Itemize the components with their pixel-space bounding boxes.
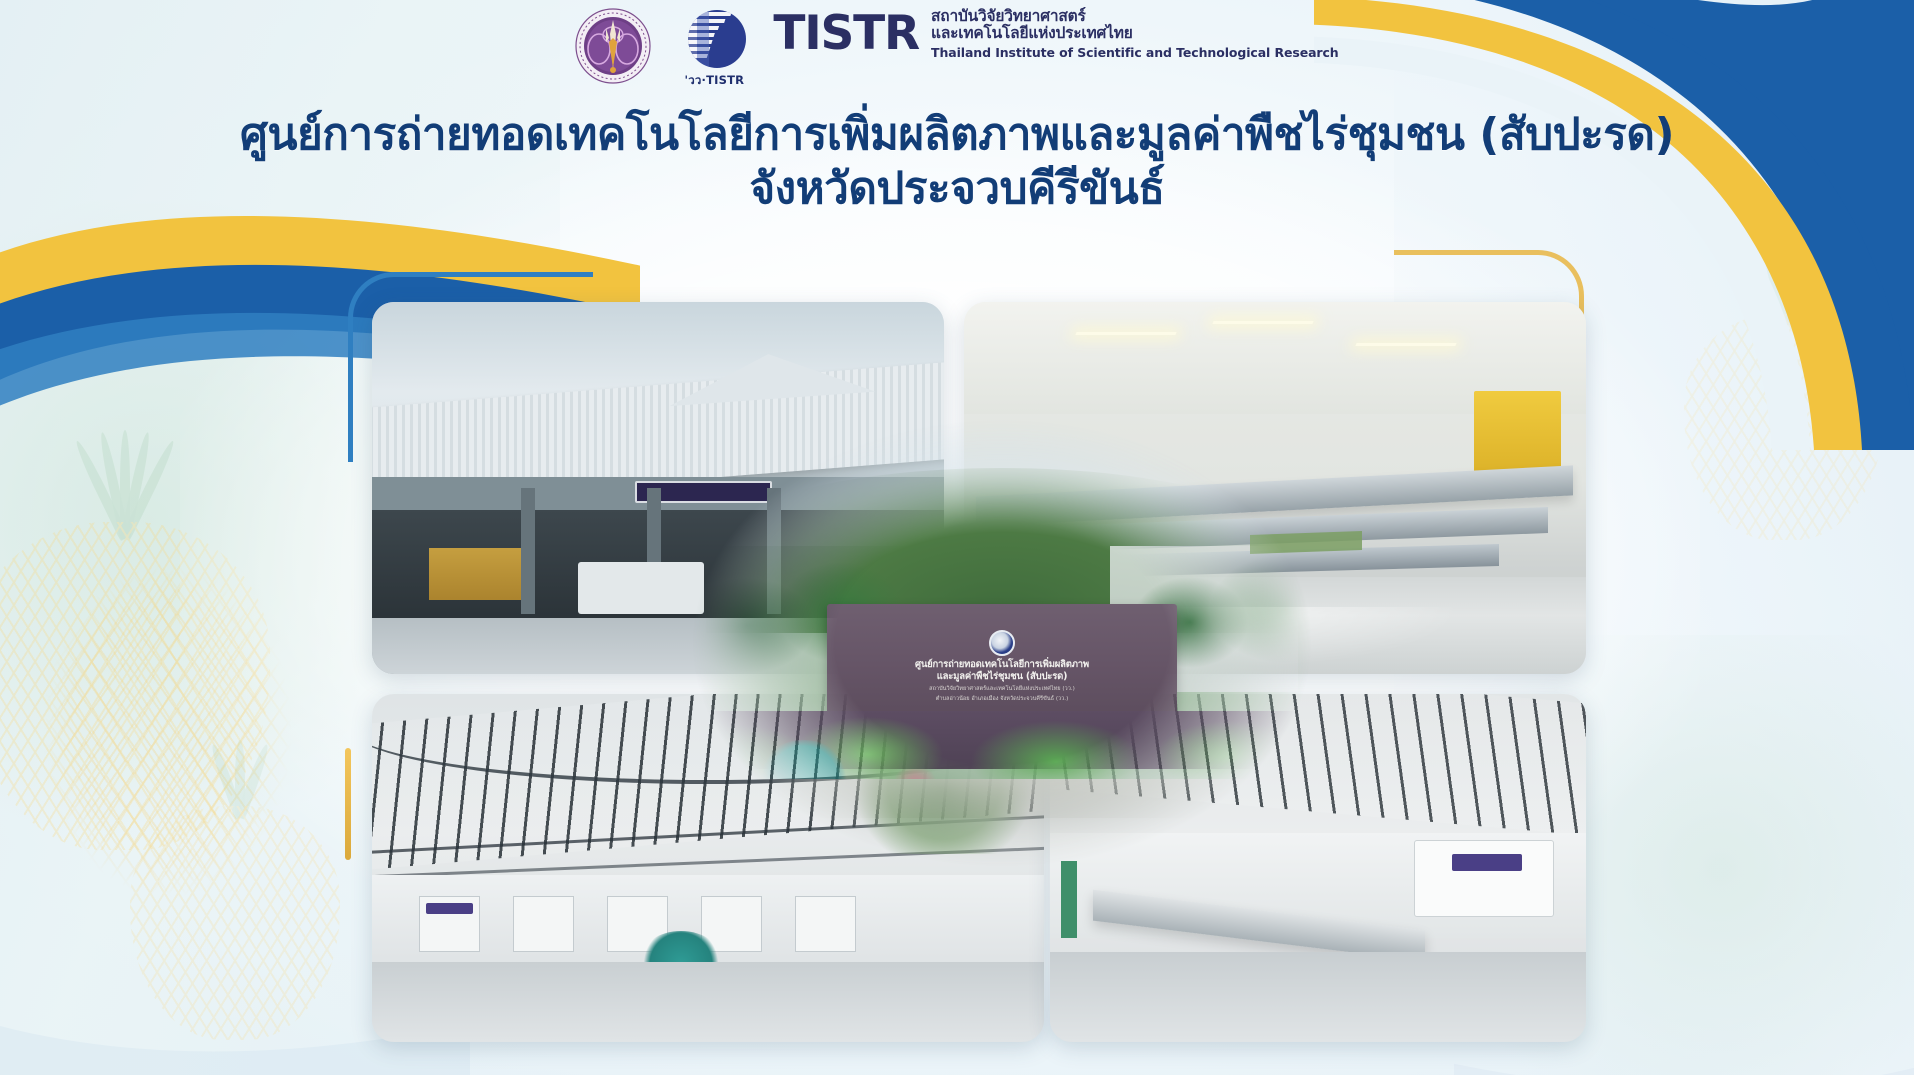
decorative-gold-bar bbox=[345, 748, 351, 860]
title-line-1: ศูนย์การถ่ายทอดเทคโนโลยีการเพิ่มผลิตภาพแ… bbox=[0, 108, 1914, 162]
page-title: ศูนย์การถ่ายทอดเทคโนโลยีการเพิ่มผลิตภาพแ… bbox=[0, 108, 1914, 215]
tistr-emblem-icon bbox=[989, 630, 1015, 656]
signboard-line-2: และมูลค่าพืชไร่ชุมชน (สับปะรด) bbox=[937, 671, 1068, 683]
signboard-line-1: ศูนย์การถ่ายทอดเทคโนโลยีการเพิ่มผลิตภาพ bbox=[915, 659, 1089, 671]
decorative-frame-corner-blue bbox=[348, 272, 593, 462]
poster-canvas: 'วว·TISTR TISTR สถาบันวิจัยวิทยาศาสตร์ แ… bbox=[0, 0, 1914, 1075]
photo-site-entrance-sign: ศูนย์การถ่ายทอดเทคโนโลยีการเพิ่มผลิตภาพ … bbox=[666, 400, 1338, 886]
title-line-2: จังหวัดประจวบคีรีขันธ์ bbox=[0, 162, 1914, 216]
